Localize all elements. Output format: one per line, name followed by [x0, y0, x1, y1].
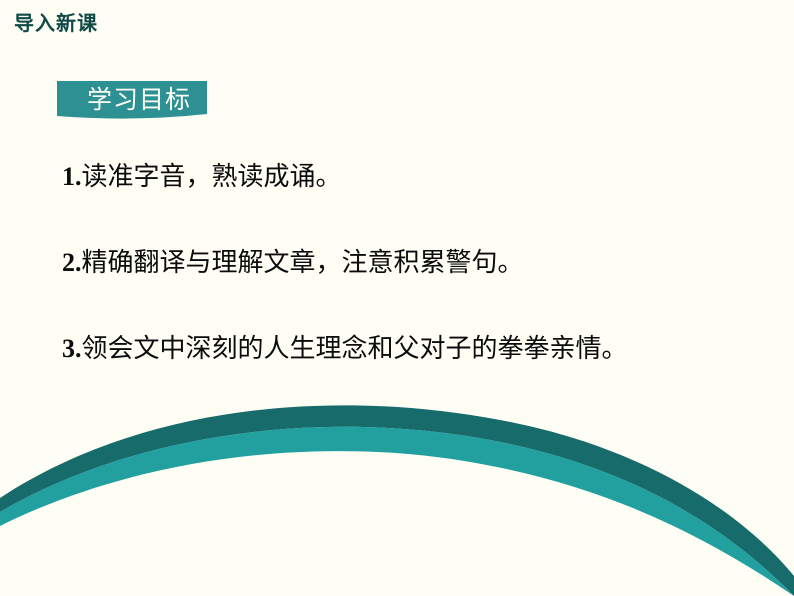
slide-canvas: 导入新课 学习目标 1.读准字音，熟读成诵。 2.精确翻译与理解文章，注意积累警…: [0, 0, 794, 596]
list-item-text: 精确翻译与理解文章，注意积累警句。: [82, 248, 524, 277]
swoosh-dark-band: [0, 405, 794, 596]
objective-list: 1.读准字音，熟读成诵。 2.精确翻译与理解文章，注意积累警句。 3.领会文中深…: [62, 160, 762, 366]
bottom-swoosh-decoration: [0, 400, 794, 596]
list-item-text: 领会文中深刻的人生理念和父对子的拳拳亲情。: [82, 334, 628, 363]
page-title: 导入新课: [14, 11, 98, 37]
list-item-index: 1.: [62, 162, 82, 191]
list-item-index: 2.: [62, 248, 82, 277]
swoosh-light-band: [0, 427, 794, 596]
list-item: 3.领会文中深刻的人生理念和父对子的拳拳亲情。: [62, 332, 762, 366]
list-item: 2.精确翻译与理解文章，注意积累警句。: [62, 246, 762, 280]
list-item-index: 3.: [62, 334, 82, 363]
banner-label: 学习目标: [57, 81, 207, 119]
list-item: 1.读准字音，熟读成诵。: [62, 160, 762, 194]
learning-objectives-banner: 学习目标: [57, 81, 207, 119]
list-item-text: 读准字音，熟读成诵。: [82, 162, 342, 191]
